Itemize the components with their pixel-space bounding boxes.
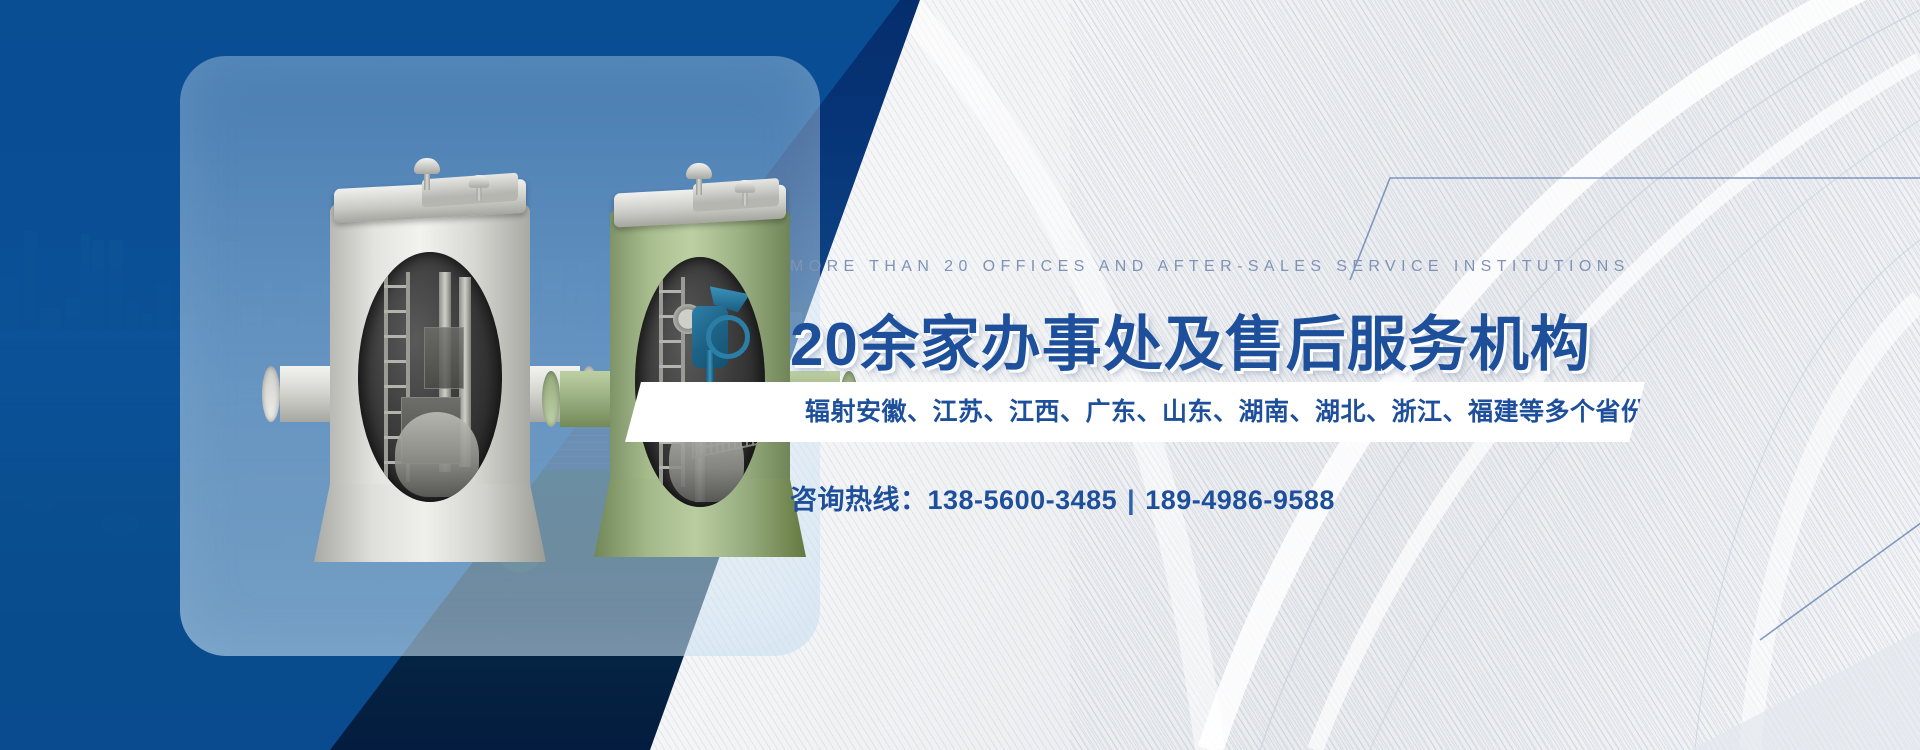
product-pump-station-gray (330, 166, 530, 556)
eyebrow-english-subtitle: MORE THAN 20 OFFICES AND AFTER-SALES SER… (790, 258, 1630, 276)
hotline-separator: | (1127, 485, 1135, 515)
inlet-pipe-left (262, 366, 340, 422)
valve-handwheel-icon (706, 315, 750, 359)
hotline-number-primary[interactable]: 138-5600-3485 (928, 485, 1118, 515)
product-showcase-panel (180, 56, 820, 656)
vent-cap-icon (414, 158, 440, 188)
pipe-ring (262, 366, 280, 422)
banner-text-block: MORE THAN 20 OFFICES AND AFTER-SALES SER… (790, 0, 1920, 750)
hotline-number-secondary[interactable]: 189-4986-9588 (1145, 485, 1335, 515)
coverage-bar: 辐射安徽、江苏、江西、广东、山东、湖南、湖北、浙江、福建等多个省份 (625, 382, 1645, 442)
cutaway-window (358, 252, 502, 502)
interior-plate (424, 327, 463, 389)
promo-banner: MORE THAN 20 OFFICES AND AFTER-SALES SER… (0, 0, 1920, 750)
coverage-text: 辐射安徽、江苏、江西、广东、山东、湖南、湖北、浙江、福建等多个省份 (805, 382, 1647, 442)
sump-basin (395, 412, 479, 497)
vent-cap-icon (686, 163, 712, 193)
inlet-pipe-left (542, 371, 620, 427)
pipe-ring (542, 371, 560, 427)
valve-assembly (682, 282, 752, 392)
page-title: 20余家办事处及售后服务机构 (790, 296, 1591, 383)
hotline-label: 咨询热线： (790, 485, 928, 515)
vent-cap-icon (469, 175, 490, 199)
hotline-row: 咨询热线：138-5600-3485|189-4986-9588 (790, 478, 1335, 517)
vent-cap-icon (735, 180, 756, 204)
product-pump-station-green (610, 171, 790, 551)
